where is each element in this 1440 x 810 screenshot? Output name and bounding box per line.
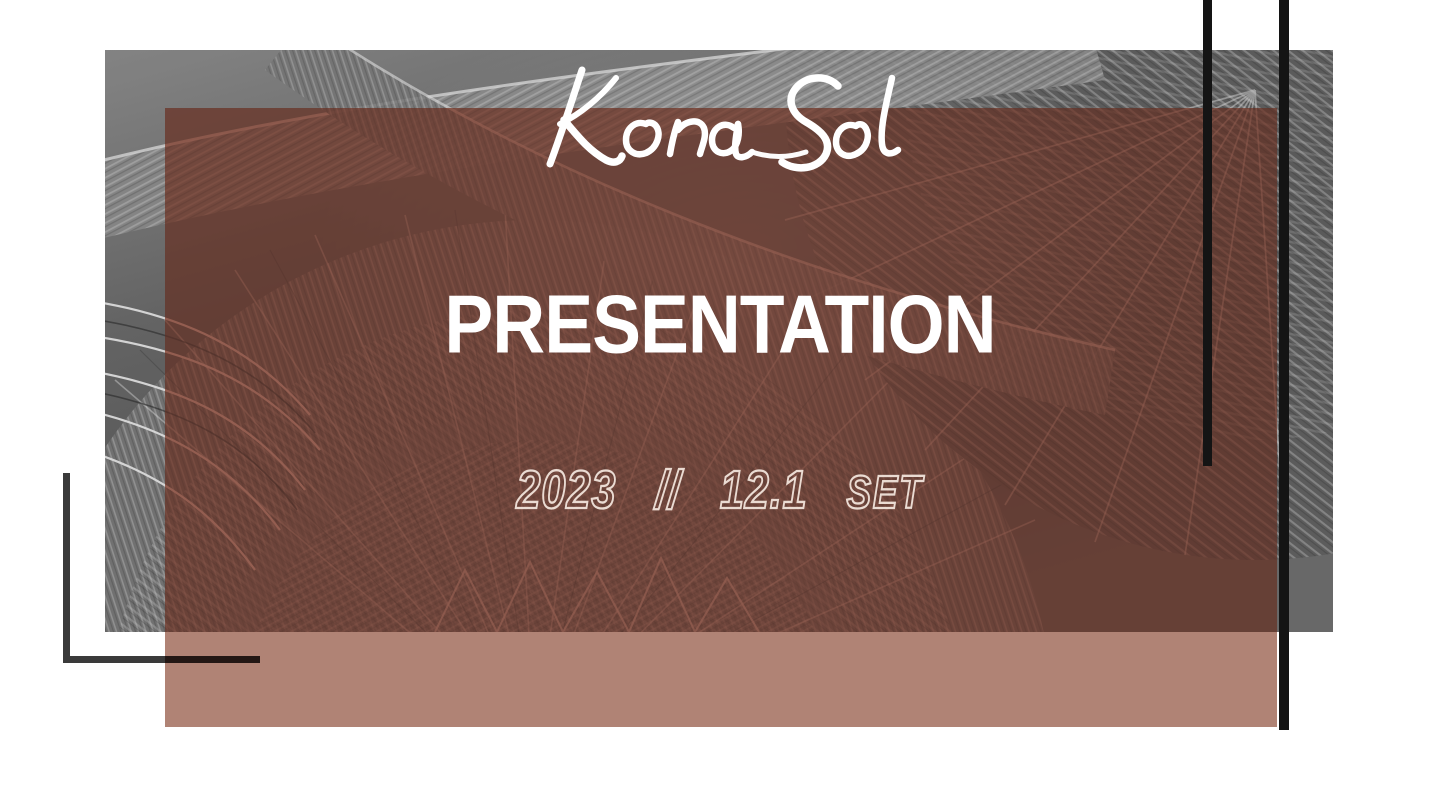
presentation-slide: PRESENTATION 2023 // 12.1 SET xyxy=(0,0,1440,810)
date-year: 2023 xyxy=(516,462,616,516)
date-day: 12.1 xyxy=(720,462,808,516)
date-suffix: SET xyxy=(846,470,923,516)
slide-date: 2023 // 12.1 SET xyxy=(58,462,1383,516)
slide-title: PRESENTATION xyxy=(7,283,1433,366)
brand-logo-kona-sol xyxy=(520,52,920,182)
slide-title-text: PRESENTATION xyxy=(444,283,995,366)
date-separator: // xyxy=(655,462,681,516)
rose-color-band xyxy=(165,632,1277,727)
vertical-accent-bar-short xyxy=(1203,0,1212,466)
corner-bracket-horizontal-arm-overlap xyxy=(165,656,260,663)
